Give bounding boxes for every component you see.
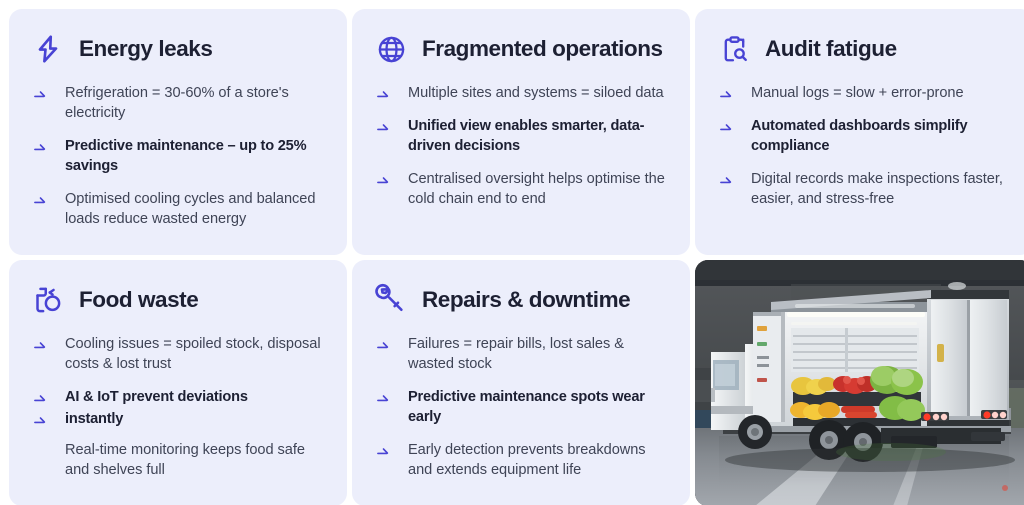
card-header: Food waste <box>31 282 325 318</box>
list-item: Cooling issues = spoiled stock, disposal… <box>31 335 325 375</box>
list-item: instantly <box>31 410 325 430</box>
list-item-text: Unified view enables smarter, data-drive… <box>408 117 668 157</box>
list-item-text: Early detection prevents breakdowns and … <box>408 441 668 481</box>
card-title: Fragmented operations <box>422 37 663 61</box>
arrow-right-icon <box>374 84 392 102</box>
bullet-list: Refrigeration = 30-60% of a store's elec… <box>31 84 325 230</box>
list-item: Multiple sites and systems = siloed data <box>374 84 668 104</box>
card-title: Food waste <box>79 288 198 312</box>
arrow-right-icon <box>374 170 392 188</box>
list-item: AI & IoT prevent deviations <box>31 388 325 408</box>
list-item: Predictive maintenance spots wear early <box>374 388 668 428</box>
bullet-list: Failures = repair bills, lost sales & wa… <box>374 335 668 481</box>
list-item-text: Real-time monitoring keeps food safe and… <box>65 441 325 481</box>
arrow-right-icon <box>374 335 392 353</box>
card-audit-fatigue: Audit fatigue Manual logs = slow + error… <box>695 9 1024 255</box>
arrow-right-icon <box>374 117 392 135</box>
list-item: Centralised oversight helps optimise the… <box>374 170 668 210</box>
list-item: Automated dashboards simplify compliance <box>717 117 1011 157</box>
card-header: Energy leaks <box>31 31 325 67</box>
wrench-icon <box>374 283 408 317</box>
arrow-right-icon <box>717 84 735 102</box>
list-item: Manual logs = slow + error-prone <box>717 84 1011 104</box>
arrow-right-icon <box>717 170 735 188</box>
card-food-waste: Food waste Cooling issues = spoiled stoc… <box>9 260 347 505</box>
arrow-right-icon <box>31 84 49 102</box>
list-item: Refrigeration = 30-60% of a store's elec… <box>31 84 325 124</box>
arrow-right-icon <box>31 410 49 428</box>
list-item-text: Optimised cooling cycles and balanced lo… <box>65 190 325 230</box>
arrow-right-icon <box>31 190 49 208</box>
list-item-text: Refrigeration = 30-60% of a store's elec… <box>65 84 325 124</box>
globe-icon <box>374 32 408 66</box>
list-item: Optimised cooling cycles and balanced lo… <box>31 190 325 230</box>
list-item-text: Cooling issues = spoiled stock, disposal… <box>65 335 325 375</box>
list-item-text: Failures = repair bills, lost sales & wa… <box>408 335 668 375</box>
lightning-bolt-icon <box>31 32 65 66</box>
list-item-text: Predictive maintenance spots wear early <box>408 388 668 428</box>
arrow-right-icon <box>31 388 49 406</box>
list-item: Predictive maintenance – up to 25% savin… <box>31 137 325 177</box>
list-item: Early detection prevents breakdowns and … <box>374 441 668 481</box>
bullet-list: Cooling issues = spoiled stock, disposal… <box>31 335 325 481</box>
card-fragmented-operations: Fragmented operations Multiple sites and… <box>352 9 690 255</box>
list-item-text: Digital records make inspections faster,… <box>751 170 1011 210</box>
card-energy-leaks: Energy leaks Refrigeration = 30-60% of a… <box>9 9 347 255</box>
list-item: Real-time monitoring keeps food safe and… <box>31 441 325 481</box>
arrow-right-icon <box>31 137 49 155</box>
card-title: Audit fatigue <box>765 37 897 61</box>
bullet-list: Manual logs = slow + error-prone Automat… <box>717 84 1011 210</box>
list-item: Digital records make inspections faster,… <box>717 170 1011 210</box>
clipboard-search-icon <box>717 32 751 66</box>
card-header: Repairs & downtime <box>374 282 668 318</box>
list-item-text: AI & IoT prevent deviations <box>65 388 248 408</box>
arrow-right-icon <box>374 388 392 406</box>
arrow-right-icon <box>374 441 392 459</box>
refrigerated-truck-photo <box>695 260 1024 505</box>
spray-bottle-icon <box>31 283 65 317</box>
bullet-list: Multiple sites and systems = siloed data… <box>374 84 668 210</box>
list-item-text: Automated dashboards simplify compliance <box>751 117 1011 157</box>
arrow-right-icon <box>31 441 49 459</box>
card-title: Energy leaks <box>79 37 212 61</box>
card-header: Audit fatigue <box>717 31 1011 67</box>
list-item-text: Predictive maintenance – up to 25% savin… <box>65 137 325 177</box>
list-item-text: Multiple sites and systems = siloed data <box>408 84 664 104</box>
truck-illustration <box>695 260 1024 505</box>
card-title: Repairs & downtime <box>422 288 630 312</box>
arrow-right-icon <box>717 117 735 135</box>
arrow-right-icon <box>31 335 49 353</box>
list-item-text: Centralised oversight helps optimise the… <box>408 170 668 210</box>
benefits-card-grid: Energy leaks Refrigeration = 30-60% of a… <box>0 0 1024 505</box>
list-item-text: Manual logs = slow + error-prone <box>751 84 964 104</box>
list-item: Unified view enables smarter, data-drive… <box>374 117 668 157</box>
list-item: Failures = repair bills, lost sales & wa… <box>374 335 668 375</box>
list-item-text: instantly <box>65 410 123 430</box>
card-repairs-downtime: Repairs & downtime Failures = repair bil… <box>352 260 690 505</box>
card-header: Fragmented operations <box>374 31 668 67</box>
